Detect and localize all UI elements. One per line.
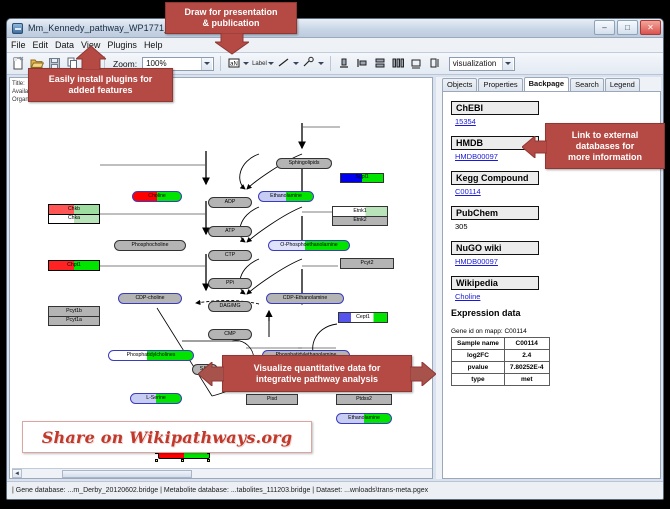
- menu-item-edit[interactable]: Edit: [33, 40, 49, 50]
- maximize-button[interactable]: □: [617, 20, 638, 35]
- node-pcyt1b[interactable]: Pcyt1b: [48, 306, 100, 316]
- node-label: Ethanolamine: [270, 194, 302, 199]
- callout-links-line2: databases for: [576, 141, 635, 152]
- node-label: Ethanolamine: [348, 416, 380, 421]
- db-link-kegg[interactable]: C00114: [455, 187, 660, 196]
- title-bar: Mm_Kennedy_pathway_WP1771_45176.gp – □ ✕: [7, 19, 663, 38]
- receptor-icon[interactable]: [302, 56, 317, 71]
- node-choline-top[interactable]: Choline: [132, 191, 182, 202]
- callout-plugins-line2: added features: [68, 85, 132, 96]
- common-width-icon[interactable]: [409, 56, 424, 71]
- node-ppi[interactable]: PPi: [208, 278, 252, 289]
- align-top-icon[interactable]: [337, 56, 352, 71]
- node-cdp-choline[interactable]: CDP-choline: [118, 293, 182, 304]
- selection-handle-sw[interactable]: [155, 459, 158, 462]
- node-etnk2[interactable]: Etnk2: [332, 216, 388, 226]
- callout-install-plugins: Easily install plugins for added feature…: [28, 68, 173, 102]
- node-chpt1[interactable]: Chpt1: [48, 260, 100, 271]
- tab-objects[interactable]: Objects: [442, 78, 477, 91]
- receptor-tool[interactable]: [302, 56, 324, 71]
- line-icon[interactable]: [277, 56, 292, 71]
- callout-draw-line1: Draw for presentation: [184, 7, 277, 18]
- db-label-pubchem: PubChem: [451, 206, 539, 220]
- status-text: | Gene database: ...m_Derby_20120602.bri…: [12, 487, 428, 494]
- common-height-icon[interactable]: [427, 56, 442, 71]
- menu-item-help[interactable]: Help: [144, 40, 163, 50]
- expr-key-type: type: [452, 374, 505, 386]
- menu-item-plugins[interactable]: Plugins: [107, 40, 137, 50]
- node-label: DAG/MG: [219, 304, 240, 309]
- node-sgpl1[interactable]: Sgpl1: [340, 173, 384, 183]
- label-tool-text: Label: [252, 61, 267, 67]
- node-cmp[interactable]: CMP: [208, 329, 252, 340]
- zoom-label: Zoom:: [113, 59, 137, 69]
- node-label: ATP: [225, 229, 235, 234]
- menu-item-data[interactable]: Data: [55, 40, 74, 50]
- node-chka[interactable]: Chka: [48, 214, 100, 224]
- callout-visualize-arrow-right-icon: [410, 362, 436, 386]
- callout-visualize-arrow-left-icon: [198, 362, 224, 386]
- share-banner-text: Share on Wikipathways.org: [42, 428, 292, 447]
- line-tool[interactable]: [277, 56, 299, 71]
- node-o-phosphoethanolamine[interactable]: O-Phosphoethanolamine: [268, 240, 350, 251]
- node-ethanolamine-top[interactable]: Ethanolamine: [258, 191, 314, 202]
- node-label: Phosphocholine: [132, 243, 169, 248]
- node-label: Pisd: [267, 397, 277, 402]
- tab-search[interactable]: Search: [570, 78, 604, 91]
- expr-value-type: met: [504, 374, 549, 386]
- close-button[interactable]: ✕: [640, 20, 661, 35]
- table-row: type met: [452, 374, 550, 386]
- callout-draw-for-publication: Draw for presentation & publication: [165, 2, 297, 34]
- db-link-wikipedia[interactable]: Choline: [455, 292, 660, 301]
- db-label-chebi: ChEBI: [451, 101, 539, 115]
- expr-value-log2fc: 2.4: [504, 350, 549, 362]
- tab-properties[interactable]: Properties: [478, 78, 522, 91]
- expression-data-heading: Expression data: [451, 308, 660, 318]
- datanode-tool[interactable]: aN: [227, 56, 249, 71]
- new-file-icon[interactable]: [11, 56, 26, 71]
- callout-links-line1: Link to external: [572, 130, 639, 141]
- node-label: Chka: [68, 216, 80, 221]
- stack-icon[interactable]: [373, 56, 388, 71]
- db-value-pubchem: 305: [455, 222, 660, 231]
- side-panel-tabs: Objects Properties Backpage Search Legen…: [436, 77, 661, 91]
- gene-id-on-mapp: Gene id on mapp: C00114: [451, 328, 660, 335]
- chevron-down-icon[interactable]: [293, 62, 299, 65]
- callout-visualize-line1: Visualize quantitative data for: [254, 363, 381, 374]
- node-phosphatidylcholines[interactable]: Phosphatidylcholines: [108, 350, 194, 361]
- callout-draw-line2: & publication: [203, 18, 260, 29]
- node-label: Chpt1: [67, 263, 81, 268]
- datanode-icon[interactable]: aN: [227, 56, 242, 71]
- expr-value-pvalue: 7.80252E-4: [504, 362, 549, 374]
- visualization-combobox[interactable]: visualization: [449, 57, 515, 71]
- expr-key-pvalue: pvalue: [452, 362, 505, 374]
- node-label: Etnk1: [353, 209, 366, 214]
- db-label-kegg: Kegg Compound: [451, 171, 539, 185]
- canvas-hscrollbar[interactable]: ◄: [12, 468, 432, 478]
- callout-visualize-data: Visualize quantitative data for integrat…: [222, 355, 412, 392]
- node-label: PPi: [226, 281, 234, 286]
- tab-legend[interactable]: Legend: [605, 78, 640, 91]
- toolbar-separator-2: [220, 56, 221, 71]
- screenshot-root: Mm_Kennedy_pathway_WP1771_45176.gp – □ ✕…: [0, 0, 670, 509]
- chevron-down-icon[interactable]: [502, 58, 513, 70]
- expression-table: Sample name C00114 log2FC 2.4 pvalue 7.8…: [451, 337, 550, 386]
- expr-value-sample-name: C00114: [504, 338, 549, 350]
- node-cept1[interactable]: Cept1: [338, 312, 388, 323]
- scroll-thumb[interactable]: [62, 470, 192, 478]
- node-label: Pcyt1b: [66, 309, 82, 314]
- toolbar-separator-3: [330, 56, 331, 71]
- expr-key-sample-name: Sample name: [452, 338, 505, 350]
- chevron-down-icon[interactable]: [318, 62, 324, 65]
- node-pcyt2[interactable]: Pcyt2: [340, 258, 394, 269]
- visualization-value: visualization: [453, 59, 497, 68]
- chevron-down-icon[interactable]: [268, 62, 274, 65]
- node-dag-mg[interactable]: DAG/MG: [208, 301, 252, 312]
- node-label: Pcyt2: [361, 261, 374, 266]
- callout-draw-arrow-down-icon: [215, 33, 249, 55]
- db-label-nugo: NuGO wiki: [451, 241, 539, 255]
- node-label: Chkb: [68, 207, 80, 212]
- node-label: Choline: [148, 194, 166, 199]
- node-chkb[interactable]: Chkb: [48, 204, 100, 214]
- node-ethanolamine-bottom[interactable]: Ethanolamine: [336, 413, 392, 424]
- node-sphingolipids[interactable]: Sphingolipids: [276, 158, 332, 169]
- node-phosphocholine[interactable]: Phosphocholine: [114, 240, 186, 251]
- callout-plugins-line1: Easily install plugins for: [49, 74, 153, 85]
- node-etnk1[interactable]: Etnk1: [332, 206, 388, 216]
- pathway-canvas[interactable]: Title: Availa Organi: [9, 77, 433, 479]
- node-label: CDP-Ethanolamine: [283, 296, 327, 301]
- chevron-down-icon[interactable]: [201, 58, 212, 70]
- window-controls: – □ ✕: [594, 20, 661, 35]
- distribute-icon[interactable]: [391, 56, 406, 71]
- node-pcyt1a[interactable]: Pcyt1a: [48, 316, 100, 326]
- callout-plugins-arrow-up-icon: [76, 46, 106, 70]
- node-label: Cept1: [356, 315, 370, 320]
- svg-text:aN: aN: [230, 62, 238, 68]
- node-atp[interactable]: ATP: [208, 226, 252, 237]
- selection-handle-s[interactable]: [181, 459, 184, 462]
- node-adp[interactable]: ADP: [208, 197, 252, 208]
- node-label: Phosphatidylcholines: [127, 353, 176, 358]
- callout-links-arrow-left-icon: [522, 136, 547, 158]
- node-label: O-Phosphoethanolamine: [280, 243, 337, 248]
- node-pisd[interactable]: Pisd: [246, 394, 298, 405]
- node-label: Pcyt1a: [66, 318, 82, 323]
- expr-key-log2fc: log2FC: [452, 350, 505, 362]
- chevron-down-icon[interactable]: [243, 62, 249, 65]
- callout-links-line3: more information: [568, 152, 642, 163]
- selection-handle-se[interactable]: [207, 459, 210, 462]
- label-tool[interactable]: Label: [252, 61, 274, 67]
- table-row: pvalue 7.80252E-4: [452, 362, 550, 374]
- table-row: log2FC 2.4: [452, 350, 550, 362]
- app-icon: [12, 23, 23, 34]
- node-label: Etnk2: [353, 218, 366, 223]
- node-label: CDP-choline: [135, 296, 164, 301]
- scroll-left-button[interactable]: ◄: [12, 469, 22, 478]
- tab-backpage[interactable]: Backpage: [524, 77, 569, 91]
- menu-item-file[interactable]: File: [11, 40, 26, 50]
- db-link-nugo[interactable]: HMDB00097: [455, 257, 660, 266]
- node-ctp[interactable]: CTP: [208, 250, 252, 261]
- node-cdp-ethanolamine[interactable]: CDP-Ethanolamine: [266, 293, 344, 304]
- callout-visualize-line2: integrative pathway analysis: [256, 374, 378, 385]
- align-left-icon[interactable]: [355, 56, 370, 71]
- share-banner: Share on Wikipathways.org: [22, 421, 312, 453]
- table-row: Sample name C00114: [452, 338, 550, 350]
- callout-external-databases: Link to external databases for more info…: [545, 123, 665, 169]
- node-label: Sphingolipids: [289, 161, 320, 166]
- node-l-serine-left[interactable]: L-Serine: [130, 393, 182, 404]
- node-label: CTP: [225, 253, 235, 258]
- node-label: L-Serine: [146, 396, 166, 401]
- node-label: Ptdss2: [356, 397, 372, 402]
- zoom-value: 100%: [146, 59, 166, 68]
- status-bar: | Gene database: ...m_Derby_20120602.bri…: [7, 481, 663, 499]
- node-label: ADP: [225, 200, 236, 205]
- db-label-wikipedia: Wikipedia: [451, 276, 539, 290]
- node-label: CMP: [224, 332, 236, 337]
- minimize-button[interactable]: –: [594, 20, 615, 35]
- node-ptdss2[interactable]: Ptdss2: [336, 394, 392, 405]
- node-label: Sgpl1: [355, 175, 368, 180]
